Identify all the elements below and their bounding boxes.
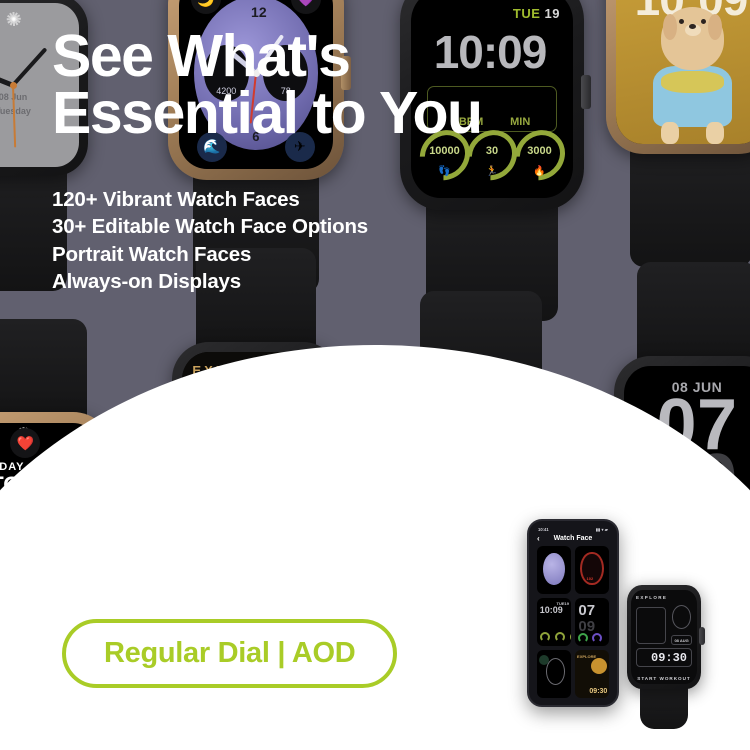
heart-icon: 💜: [291, 0, 321, 14]
face-date: 08 AUG: [671, 635, 692, 645]
face-daynum: 19: [545, 6, 560, 21]
watch-face-tile[interactable]: 10:09 TUE19: [537, 598, 571, 646]
watch-face-tile[interactable]: [537, 546, 571, 594]
gauge-value: 30: [468, 145, 516, 157]
feature-item: 30+ Editable Watch Face Options: [52, 213, 482, 240]
watch-face-tile[interactable]: EXPLORE 09:30: [575, 650, 609, 698]
face-brand: EXPLORE: [636, 595, 667, 600]
activity-wheel: [672, 605, 692, 629]
phone-app-title: ‹ Watch Face: [533, 533, 613, 546]
gauge-value: 10000: [421, 145, 469, 157]
watch-face-tile[interactable]: 07 09: [575, 598, 609, 646]
status-icons: ▮▮ ▾ ▰: [596, 527, 608, 532]
status-time: 10:41: [538, 527, 549, 532]
chevron-left-icon[interactable]: ‹: [537, 534, 540, 543]
hand-pin: [10, 82, 17, 89]
feature-item: Always-on Displays: [52, 268, 482, 295]
watch-face-tile[interactable]: 102: [575, 546, 609, 594]
gauge-value: 3000: [516, 145, 564, 157]
footsteps-icon: 👣: [421, 166, 469, 177]
feature-list: 120+ Vibrant Watch Faces 30+ Editable Wa…: [52, 186, 482, 295]
dog-photo: [643, 7, 742, 143]
start-workout-label: START WORKOUT: [631, 676, 696, 681]
headline-line-2: Essential to You: [52, 85, 652, 142]
feature-item: Portrait Watch Faces: [52, 241, 482, 268]
flame-icon: 🔥: [516, 166, 564, 177]
numeral-12: 12: [251, 4, 267, 20]
watch-face-grid: 102 10:09 TUE19 07 09: [533, 546, 613, 698]
promo-banner: 08 Jun Tuesday 🌙 💜 12 6: [0, 0, 750, 750]
watch-face-tile[interactable]: [537, 650, 571, 698]
feature-item: 120+ Vibrant Watch Faces: [52, 186, 482, 213]
status-badge: Regular Dial | AOD: [62, 619, 397, 688]
face-date: TUE 19: [513, 6, 560, 21]
small-watch-mockup: EXPLORE 08 AUG 09:30 START WORKOUT: [627, 585, 701, 689]
face-time: 09:30: [636, 648, 692, 667]
phone-mockup: 10:41 ▮▮ ▾ ▰ ‹ Watch Face 102 10:09 TUE1…: [527, 519, 619, 707]
page-title: See What's Essential to You: [52, 28, 652, 141]
stats-panel: [636, 607, 666, 644]
crown-button[interactable]: [699, 627, 705, 645]
headline-line-1: See What's: [52, 28, 652, 85]
running-icon: 🏃: [468, 166, 516, 177]
phone-status-bar: 10:41 ▮▮ ▾ ▰: [533, 525, 613, 533]
watch-screen: EXPLORE 08 AUG 09:30 START WORKOUT: [631, 590, 696, 684]
app-title-text: Watch Face: [554, 535, 593, 542]
face-weekday: TUE: [513, 6, 541, 21]
